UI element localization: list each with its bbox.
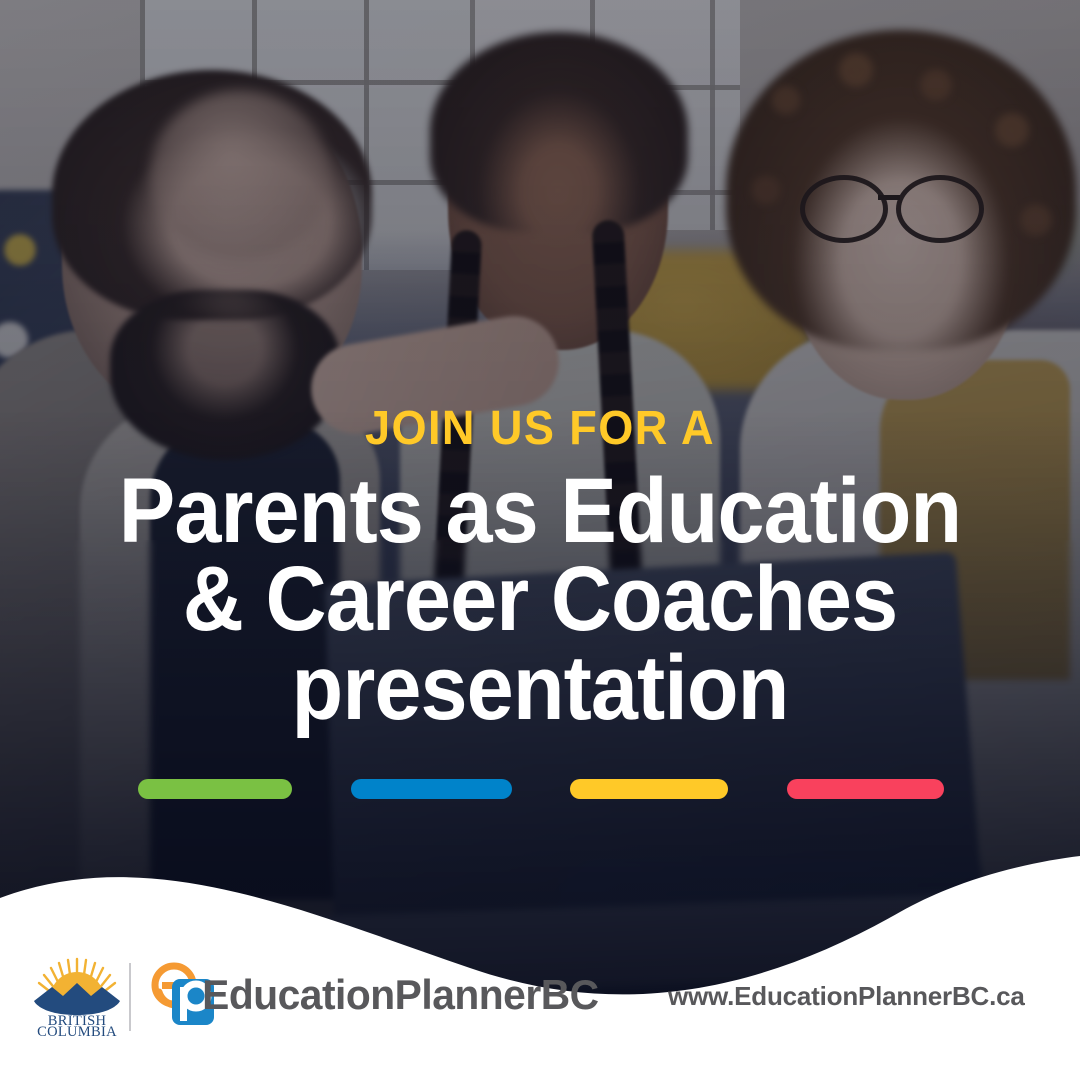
- footer: BRITISH COLUMBIA EducationPlannerBC: [0, 955, 1080, 1065]
- accent-bar-green: [138, 779, 292, 799]
- accent-bar-pink: [787, 779, 944, 799]
- bc-logo-line-2: COLUMBIA: [37, 1024, 117, 1037]
- headline-block: JOIN US FOR A Parents as Education & Car…: [0, 405, 1080, 732]
- accent-bar-group: [138, 779, 944, 799]
- accent-bar-blue: [351, 779, 512, 799]
- promo-poster: JOIN US FOR A Parents as Education & Car…: [0, 0, 1080, 1080]
- accent-bar-yellow: [570, 779, 728, 799]
- website-url: www.EducationPlannerBC.ca: [668, 981, 1025, 1012]
- logo-divider: [129, 963, 131, 1031]
- eyebrow-text: JOIN US FOR A: [32, 405, 1047, 453]
- page-title: Parents as Education & Career Coaches pr…: [43, 467, 1037, 732]
- british-columbia-logo: BRITISH COLUMBIA: [28, 955, 126, 1037]
- bc-logo-svg: BRITISH COLUMBIA: [28, 955, 126, 1037]
- ep-wordmark: EducationPlannerBC: [202, 971, 598, 1019]
- headline-line-1: Parents as Education: [43, 467, 1037, 555]
- headline-line-3: presentation: [43, 644, 1037, 732]
- headline-line-2: & Career Coaches: [43, 555, 1037, 643]
